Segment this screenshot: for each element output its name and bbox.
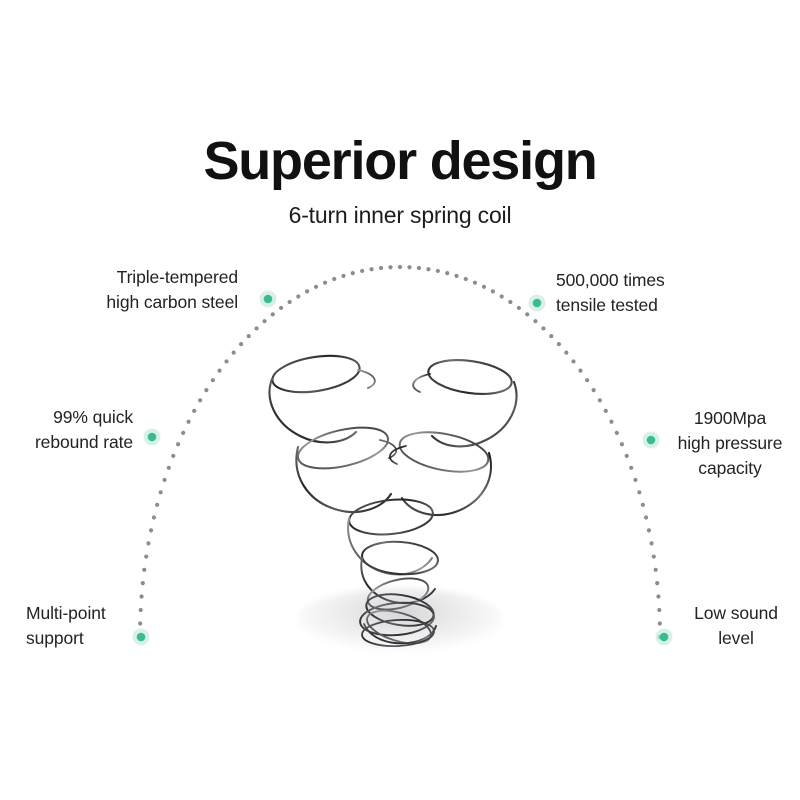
arc-dot xyxy=(142,568,146,572)
arc-dot xyxy=(557,342,561,346)
feature-label-99-percent-quick-rebound-rate: 99% quick rebound rate xyxy=(13,405,133,455)
arc-dot xyxy=(232,351,236,355)
arc-dot xyxy=(167,466,171,470)
arc-dot xyxy=(541,326,545,330)
arc-dot xyxy=(186,420,190,424)
arc-dot xyxy=(198,398,202,402)
arc-dot xyxy=(426,267,430,271)
arc-dot xyxy=(571,359,575,363)
arc-dot xyxy=(473,281,477,285)
spring-coil-illustration xyxy=(258,352,538,662)
arc-dot xyxy=(296,294,300,298)
arc-dot xyxy=(637,490,641,494)
arc-dot xyxy=(657,608,661,612)
arc-dot xyxy=(171,454,175,458)
arc-dot xyxy=(615,431,619,435)
feature-dot-500000-times-tensile-tested[interactable] xyxy=(533,299,542,308)
arc-dot xyxy=(369,267,373,271)
arc-dot xyxy=(625,454,629,458)
arc-dot xyxy=(454,274,458,278)
arc-dot xyxy=(176,442,180,446)
feature-dot-99-percent-quick-rebound-rate[interactable] xyxy=(148,433,157,442)
arc-dot xyxy=(162,478,166,482)
arc-dot xyxy=(407,265,411,269)
arc-dot xyxy=(464,277,468,281)
arc-dot xyxy=(644,515,648,519)
arc-dot xyxy=(254,326,258,330)
arc-dot xyxy=(146,541,150,545)
arc-dot xyxy=(585,378,589,382)
arc-dot xyxy=(417,266,421,270)
feature-dot-triple-tempered-high-carbon-steel[interactable] xyxy=(264,295,273,304)
arc-dot xyxy=(533,319,537,323)
arc-dot xyxy=(658,621,662,625)
arc-dot xyxy=(654,568,658,572)
arc-dot xyxy=(500,294,504,298)
arc-dot xyxy=(517,306,521,310)
arc-dot xyxy=(351,271,355,275)
arc-dot xyxy=(141,581,145,585)
arc-dot xyxy=(159,490,163,494)
arc-dot xyxy=(564,351,568,355)
arc-dot xyxy=(332,277,336,281)
superior-design-infographic: Superior design 6-turn inner spring coil xyxy=(0,0,800,800)
arc-dot xyxy=(633,478,637,482)
spring-coil-image xyxy=(258,352,538,662)
arc-dot xyxy=(388,265,392,269)
arc-dot xyxy=(629,466,633,470)
arc-dot xyxy=(305,289,309,293)
arc-dot xyxy=(192,409,196,413)
arc-dot xyxy=(181,431,185,435)
arc-dot xyxy=(445,271,449,275)
arc-dot xyxy=(341,274,345,278)
arc-dot xyxy=(609,420,613,424)
arc-dot xyxy=(549,334,553,338)
arc-dot xyxy=(149,528,153,532)
arc-dot xyxy=(314,285,318,289)
arc-dot xyxy=(211,378,215,382)
arc-dot xyxy=(436,269,440,273)
arc-dot xyxy=(508,300,512,304)
arc-dot xyxy=(647,528,651,532)
arc-dot xyxy=(204,388,208,392)
arc-dot xyxy=(398,265,402,269)
arc-dot xyxy=(641,503,645,507)
arc-dot xyxy=(224,359,228,363)
feature-dot-1900mpa-high-pressure-capacity[interactable] xyxy=(647,436,656,445)
feature-label-500000-times-tensile-tested: 500,000 times tensile tested xyxy=(556,268,771,318)
feature-label-multi-point-support: Multi-point support xyxy=(26,601,146,651)
feature-label-triple-tempered-high-carbon-steel: Triple-tempered high carbon steel xyxy=(38,265,238,315)
arc-dot xyxy=(604,409,608,413)
arc-dot xyxy=(578,369,582,373)
arc-dot xyxy=(144,554,148,558)
arc-dot xyxy=(247,334,251,338)
feature-label-low-sound-level: Low sound level xyxy=(680,601,792,651)
arc-dot xyxy=(217,369,221,373)
arc-dot xyxy=(360,269,364,273)
arc-dot xyxy=(598,398,602,402)
arc-dot xyxy=(525,312,529,316)
arc-dot xyxy=(288,300,292,304)
arc-dot xyxy=(239,342,243,346)
arc-dot xyxy=(271,312,275,316)
arc-dot xyxy=(491,289,495,293)
arc-dot xyxy=(279,306,283,310)
arc-dot xyxy=(262,319,266,323)
arc-dot xyxy=(152,515,156,519)
feature-dot-low-sound-level[interactable] xyxy=(660,633,669,642)
arc-dot xyxy=(652,554,656,558)
arc-dot xyxy=(379,266,383,270)
arc-dot xyxy=(482,285,486,289)
arc-dot xyxy=(592,388,596,392)
arc-dot xyxy=(649,541,653,545)
arc-dot xyxy=(139,594,143,598)
feature-label-1900mpa-high-pressure-capacity: 1900Mpa high pressure capacity xyxy=(666,406,794,481)
arc-dot xyxy=(655,581,659,585)
arc-dot xyxy=(656,594,660,598)
arc-dot xyxy=(323,281,327,285)
arc-dot xyxy=(155,503,159,507)
arc-dot xyxy=(620,442,624,446)
